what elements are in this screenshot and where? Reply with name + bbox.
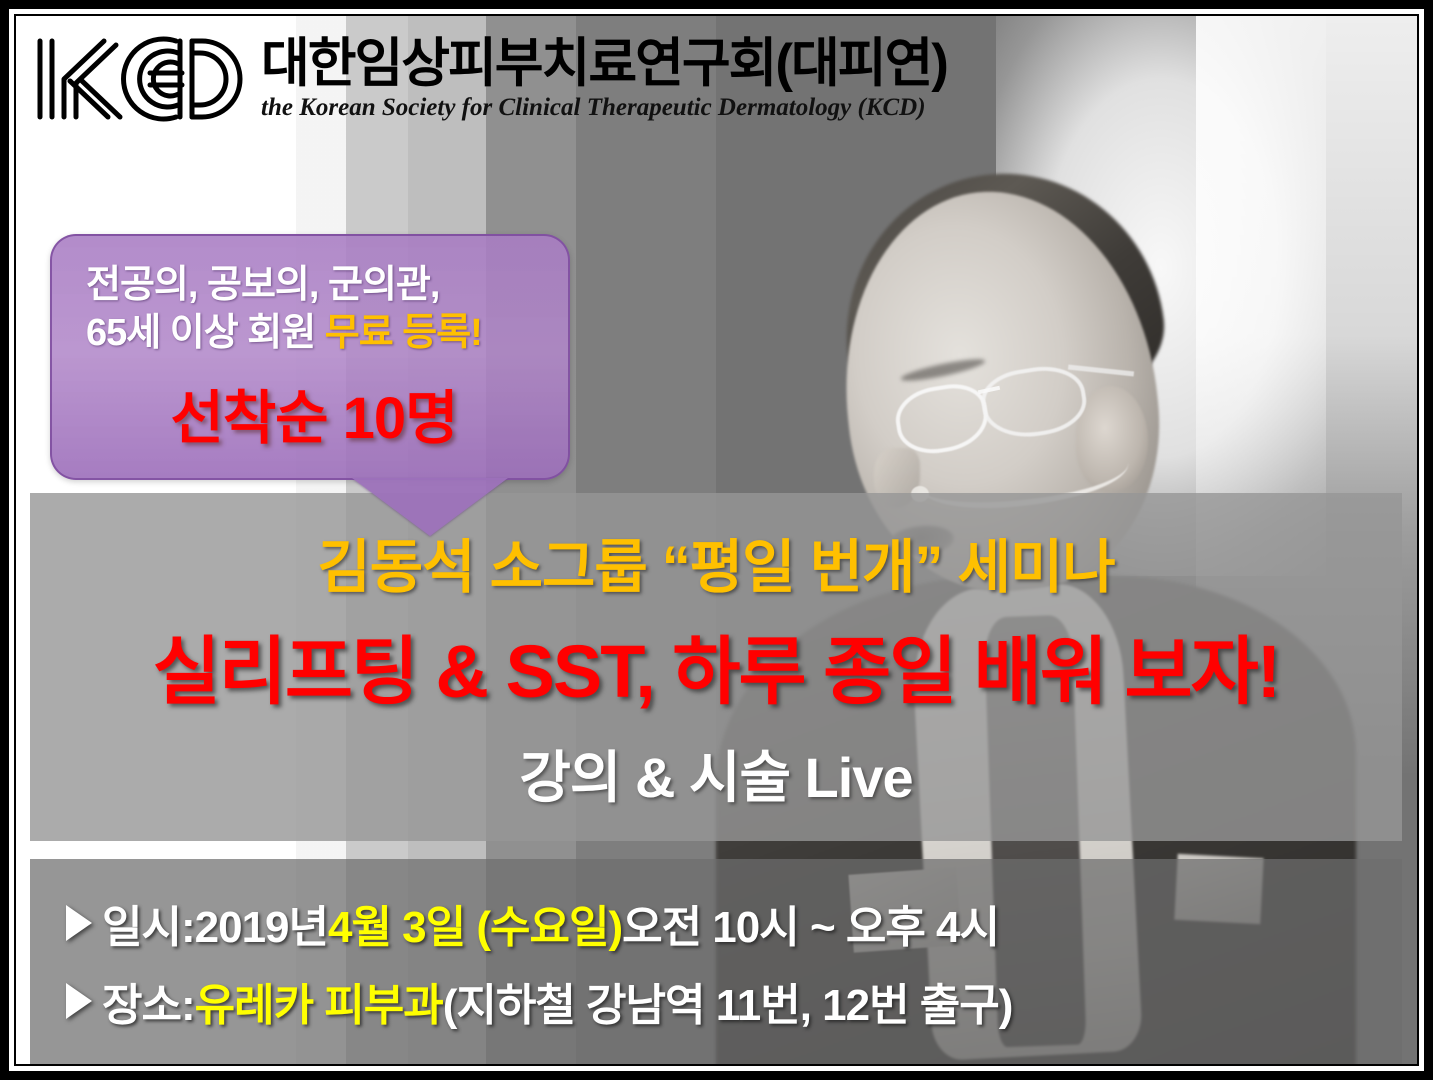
callout-line-2: 65세 이상 회원 무료 등록! <box>86 310 542 358</box>
free-registration-callout: 전공의, 공보의, 군의관, 65세 이상 회원 무료 등록! 선착순 10명 <box>50 234 570 480</box>
main-title-panel: 김동석 소그룹 “평일 번개” 세미나 실리프팅 & SST, 하루 종일 배워… <box>30 493 1402 841</box>
callout-line-2-plain: 65세 이상 회원 <box>86 312 325 354</box>
event-location-row: 장소: 유레카 피부과 (지하철 강남역 11번, 12번 출구) <box>66 969 1402 1033</box>
bullet-triangle-icon <box>66 983 92 1019</box>
kcd-logo-icon <box>30 29 245 129</box>
seminar-format-label: 강의 & 시술 Live <box>519 733 912 814</box>
date-prefix: 2019년 <box>195 891 328 955</box>
organization-name: 대한임상피부치료연구회(대피연) <box>261 36 947 92</box>
seminar-main-title: 실리프팅 & SST, 하루 종일 배워 보자! <box>153 612 1280 719</box>
place-label: 장소: <box>102 969 195 1033</box>
callout-bubble-body: 전공의, 공보의, 군의관, 65세 이상 회원 무료 등록! 선착순 10명 <box>50 234 570 480</box>
event-date-row: 일시: 2019년 4월 3일 (수요일) 오전 10시 ~ 오후 4시 <box>66 891 1402 955</box>
callout-line-1: 전공의, 공보의, 군의관, <box>86 262 542 310</box>
callout-limited-seats: 선착순 10명 <box>86 371 542 455</box>
callout-bubble-tail <box>352 478 508 536</box>
poster-canvas: 대한임상피부치료연구회(대피연) the Korean Society for … <box>16 16 1417 1064</box>
date-highlight: 4월 3일 (수요일) <box>328 891 622 955</box>
organization-subtitle: the Korean Society for Clinical Therapeu… <box>261 94 947 122</box>
date-label: 일시: <box>102 891 195 955</box>
header-text-block: 대한임상피부치료연구회(대피연) the Korean Society for … <box>261 36 947 121</box>
callout-line-2-highlight: 무료 등록! <box>325 312 482 354</box>
place-highlight: 유레카 피부과 <box>195 969 443 1033</box>
bullet-triangle-icon <box>66 905 92 941</box>
event-details-panel: 일시: 2019년 4월 3일 (수요일) 오전 10시 ~ 오후 4시 장소:… <box>30 859 1402 1064</box>
poster-header: 대한임상피부치료연구회(대피연) the Korean Society for … <box>16 16 1417 141</box>
date-suffix: 오전 10시 ~ 오후 4시 <box>622 891 999 955</box>
poster-root: 대한임상피부치료연구회(대피연) the Korean Society for … <box>0 0 1433 1080</box>
place-suffix: (지하철 강남역 11번, 12번 출구) <box>443 969 1013 1033</box>
